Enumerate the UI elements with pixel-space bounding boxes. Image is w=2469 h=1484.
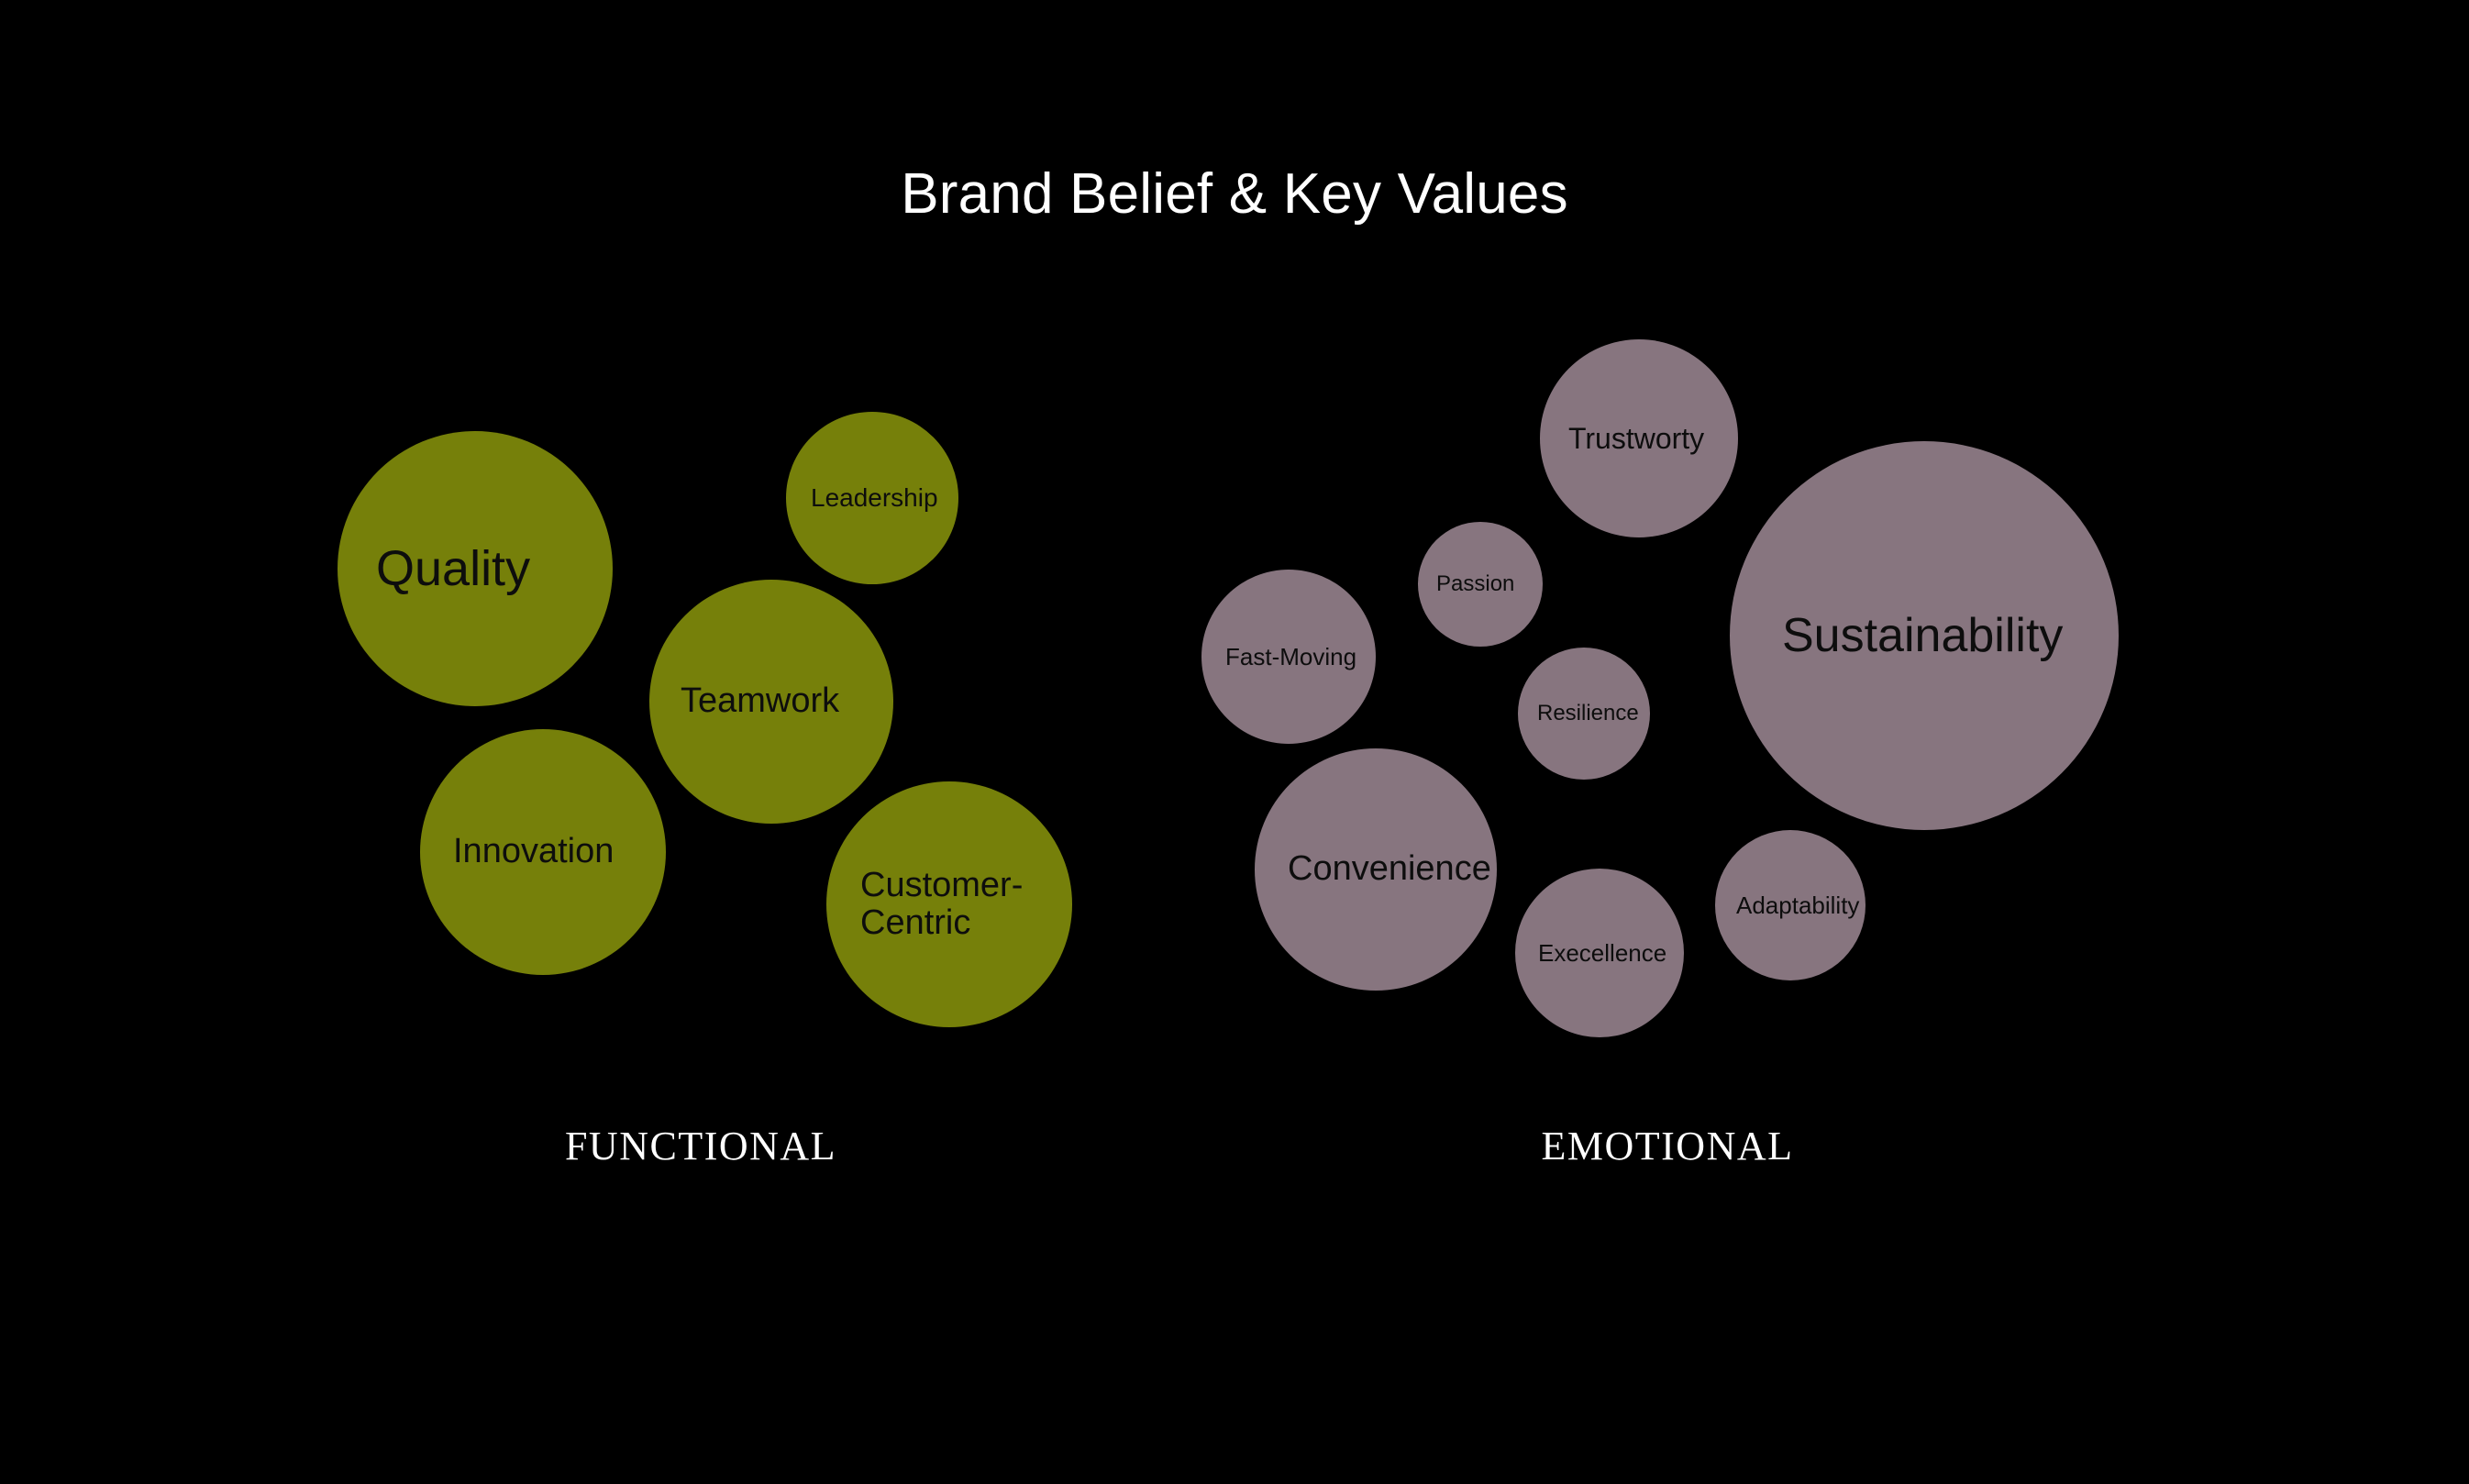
bubble-passion[interactable]: Passion <box>1418 522 1543 647</box>
bubble-convenience[interactable]: Convenience <box>1255 748 1497 991</box>
bubble-label: Adaptability <box>1736 892 1859 918</box>
bubble-execellence[interactable]: Execellence <box>1515 869 1684 1037</box>
bubble-fast-moving[interactable]: Fast-Moving <box>1201 570 1376 744</box>
bubble-label: Customer- Centric <box>860 867 1023 942</box>
bubble-label: Fast-Moving <box>1225 644 1356 670</box>
bubble-innovation[interactable]: Innovation <box>420 729 666 975</box>
bubble-label: Convenience <box>1288 850 1491 888</box>
bubble-quality[interactable]: Quality <box>338 431 613 706</box>
bubble-label: Teamwork <box>681 682 839 720</box>
chart-canvas: Brand Belief & Key Values QualityLeaders… <box>0 0 2469 1484</box>
bubble-resilience[interactable]: Resilience <box>1518 648 1650 780</box>
cluster-caption-functional: FUNCTIONAL <box>565 1123 836 1169</box>
bubble-label: Execellence <box>1538 940 1666 966</box>
bubble-label: Passion <box>1436 572 1514 596</box>
bubble-customer-centric[interactable]: Customer- Centric <box>826 781 1072 1027</box>
bubble-leadership[interactable]: Leadership <box>786 412 958 584</box>
bubble-label: Quality <box>376 542 530 595</box>
bubble-adaptability[interactable]: Adaptability <box>1715 830 1866 980</box>
page-title: Brand Belief & Key Values <box>0 163 2469 226</box>
bubble-sustainability[interactable]: Sustainability <box>1730 441 2119 830</box>
bubble-label: Resilience <box>1537 702 1639 725</box>
bubble-label: Innovation <box>453 833 614 870</box>
bubble-label: Sustainability <box>1782 610 2063 661</box>
bubble-teamwork[interactable]: Teamwork <box>649 580 893 824</box>
bubble-label: Leadership <box>811 484 938 512</box>
bubble-label: Trustworty <box>1568 423 1704 455</box>
cluster-caption-emotional: EMOTIONAL <box>1541 1123 1793 1169</box>
bubble-trustworty[interactable]: Trustworty <box>1540 339 1738 537</box>
